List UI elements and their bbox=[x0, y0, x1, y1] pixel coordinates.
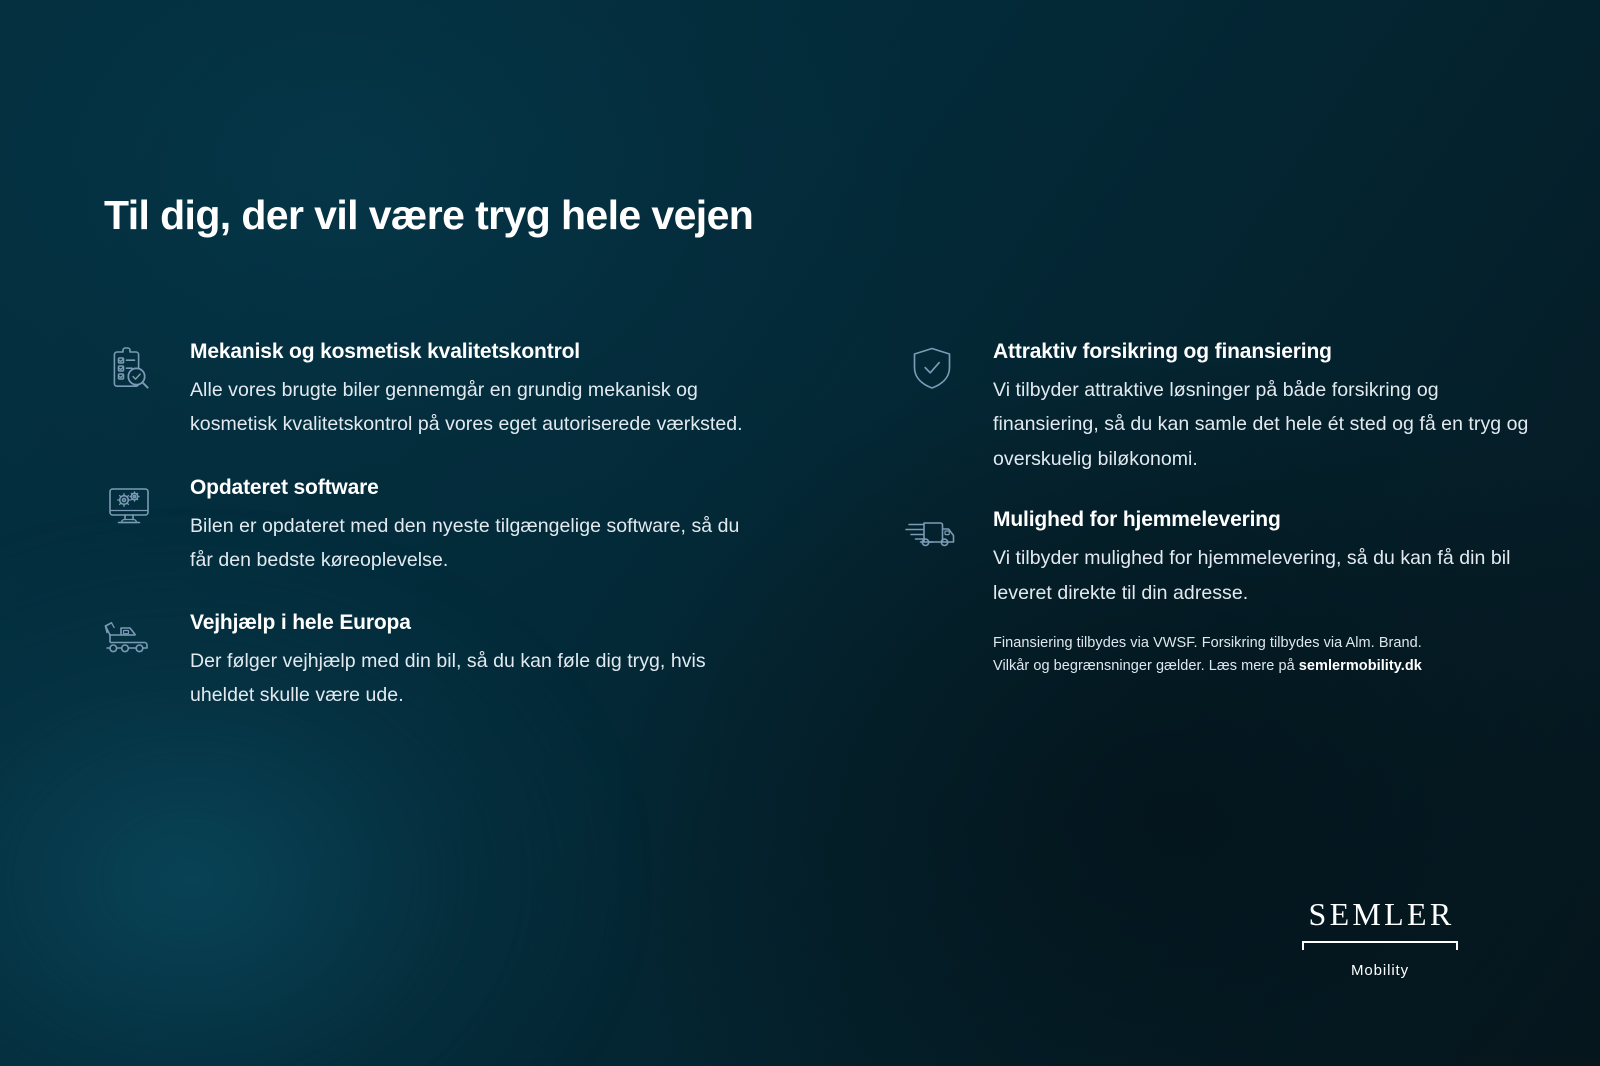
feature-item-quality-control: Mekanisk og kosmetisk kvalitetskontrol A… bbox=[100, 340, 800, 442]
clipboard-magnifier-icon bbox=[100, 344, 158, 396]
feature-title: Attraktiv forsikring og finansiering bbox=[993, 340, 1543, 364]
feature-description: Vi tilbyder mulighed for hjemmelevering,… bbox=[993, 541, 1543, 610]
feature-description: Bilen er opdateret med den nyeste tilgæn… bbox=[190, 509, 750, 578]
disclaimer-line-2-prefix: Vilkår og begrænsninger gælder. Læs mere… bbox=[993, 658, 1299, 674]
feature-title: Mulighed for hjemmelevering bbox=[993, 508, 1543, 532]
feature-description: Der følger vejhjælp med din bil, så du k… bbox=[190, 644, 750, 713]
feature-column-right: Attraktiv forsikring og finansiering Vi … bbox=[903, 340, 1543, 750]
feature-description: Vi tilbyder attraktive løsninger på både… bbox=[993, 373, 1543, 476]
promo-panel: Til dig, der vil være tryg hele vejen bbox=[0, 0, 1600, 1066]
feature-description: Alle vores brugte biler gennemgår en gru… bbox=[190, 373, 750, 442]
feature-title: Opdateret software bbox=[190, 476, 800, 500]
shield-check-icon bbox=[903, 344, 961, 396]
feature-title: Mekanisk og kosmetisk kvalitetskontrol bbox=[190, 340, 800, 364]
monitor-gears-icon bbox=[100, 480, 158, 532]
legal-disclaimer: Finansiering tilbydes via VWSF. Forsikri… bbox=[993, 632, 1463, 679]
semler-mobility-logo: SEMLER Mobility bbox=[1298, 898, 1462, 979]
logo-subtitle: Mobility bbox=[1298, 962, 1462, 979]
disclaimer-line-1: Finansiering tilbydes via VWSF. Forsikri… bbox=[993, 635, 1422, 651]
feature-title: Vejhjælp i hele Europa bbox=[190, 611, 800, 635]
feature-body: Opdateret software Bilen er opdateret me… bbox=[190, 476, 800, 578]
feature-item-updated-software: Opdateret software Bilen er opdateret me… bbox=[100, 476, 800, 578]
semlermobility-link[interactable]: semlermobility.dk bbox=[1299, 658, 1422, 674]
feature-columns: Mekanisk og kosmetisk kvalitetskontrol A… bbox=[0, 340, 1600, 750]
page-title: Til dig, der vil være tryg hele vejen bbox=[104, 192, 753, 239]
feature-body: Mulighed for hjemmelevering Vi tilbyder … bbox=[993, 508, 1543, 610]
delivery-truck-icon bbox=[903, 512, 961, 564]
logo-divider-tick-right bbox=[1456, 941, 1458, 950]
feature-body: Attraktiv forsikring og finansiering Vi … bbox=[993, 340, 1543, 476]
logo-divider-bar bbox=[1302, 941, 1458, 943]
tow-truck-icon bbox=[100, 615, 158, 667]
feature-body: Vejhjælp i hele Europa Der følger vejhjæ… bbox=[190, 611, 800, 713]
feature-body: Mekanisk og kosmetisk kvalitetskontrol A… bbox=[190, 340, 800, 442]
feature-column-left: Mekanisk og kosmetisk kvalitetskontrol A… bbox=[100, 340, 800, 750]
feature-item-insurance-financing: Attraktiv forsikring og finansiering Vi … bbox=[903, 340, 1543, 476]
feature-item-home-delivery: Mulighed for hjemmelevering Vi tilbyder … bbox=[903, 508, 1543, 610]
logo-divider-tick-left bbox=[1302, 941, 1304, 950]
logo-wordmark: SEMLER bbox=[1298, 898, 1462, 930]
logo-divider bbox=[1302, 941, 1458, 950]
feature-item-roadside-assistance: Vejhjælp i hele Europa Der følger vejhjæ… bbox=[100, 611, 800, 713]
